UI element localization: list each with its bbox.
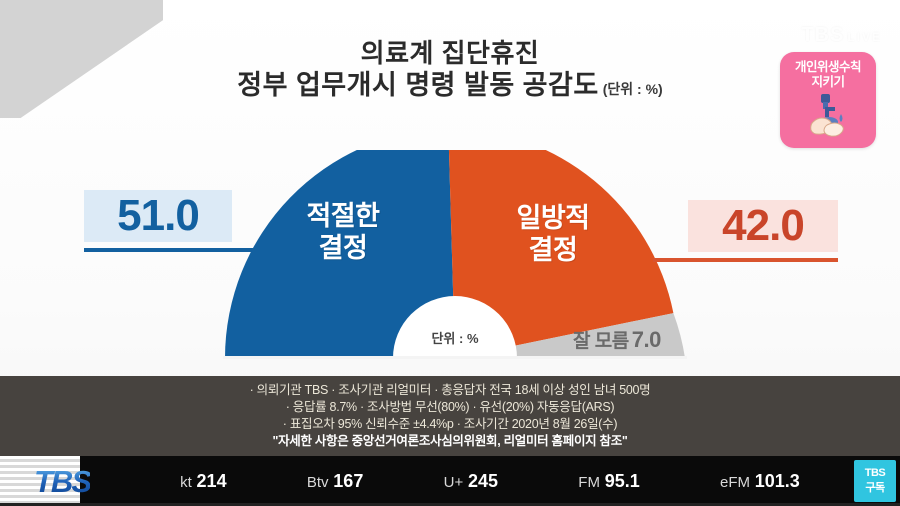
channel-number-btv: 167 [333,471,363,491]
channel-name-efm: eFM [720,474,750,491]
channel-number-uplus: 245 [468,471,498,491]
subscribe-badge-line1: TBS [865,467,886,479]
chart-title-block: 의료계 집단휴진 정부 업무개시 명령 발동 공감도(단위 : %) [0,38,900,102]
channel-list: kt 214 Btv 167 U+ 245 FM 95.1 eFM 101.3 [140,456,840,506]
broadcast-screen: TBSLIVE 개인위생수칙 지키기 의료계 집단휴진 정부 업무개시 명령 발… [0,0,900,506]
note-line-3: · 표집오차 95% 신뢰수준 ±4.4%p · 조사기간 2020년 8월 2… [283,416,617,433]
methodology-note-band: · 의뢰기관 TBS · 조사기관 리얼미터 · 총응답자 전국 18세 이상 … [0,376,900,456]
callout-right-value: 42.0 [688,200,838,252]
channel-name-btv: Btv [307,474,329,491]
slice-value-gray: 7.0 [632,327,661,352]
chart-subtitle: 의료계 집단휴진 [0,38,900,68]
hygiene-badge-line1: 개인위생수칙 [795,60,861,75]
channel-item-btv: Btv 167 [307,471,363,492]
channel-name-kt: kt [180,474,192,491]
channel-number-fm: 95.1 [605,471,640,491]
slice-label-orange: 일방적 결정 [478,202,628,266]
note-line-2: · 응답률 8.7% · 조사방법 무선(80%) · 유선(20%) 자동응답… [286,399,614,416]
callout-right-rule [653,258,838,262]
callout-right: 42.0 [688,200,838,262]
hygiene-badge-line2: 지키기 [811,75,844,90]
callout-left-rule [84,248,259,252]
note-line-4: "자세한 사항은 중앙선거여론조사심의위원회, 리얼미터 홈페이지 참조" [272,433,627,450]
tbs-live-watermark: TBSLIVE [801,24,882,47]
tbs-watermark-text: TBS [801,24,844,46]
chart-center-unit-label: 단위 : % [390,328,520,347]
callout-left-value: 51.0 [84,190,232,242]
chart-title: 정부 업무개시 명령 발동 공감도 [237,68,598,102]
channel-bar: TBS kt 214 Btv 167 U+ 245 FM 95.1 eFM 10… [0,456,900,506]
handwash-icon [801,92,855,143]
callout-left: 51.0 [84,190,259,252]
slice-label-orange-line2: 결정 [478,234,628,266]
channel-item-kt: kt 214 [180,471,226,492]
hygiene-badge: 개인위생수칙 지키기 [780,52,876,148]
live-watermark-text: LIVE [847,30,882,44]
slice-label-gray-text: 잘 모름 [573,331,629,352]
channel-item-fm: FM 95.1 [578,471,639,492]
channel-number-efm: 101.3 [755,471,800,491]
channel-name-uplus: U+ [444,474,464,491]
tbs-logo: TBS [34,464,90,500]
chart-unit-note: (단위 : %) [603,81,663,97]
slice-label-orange-line1: 일방적 [478,202,628,234]
subscribe-badge[interactable]: TBS 구독 [854,460,896,502]
pie-chart: 적절한 결정 일방적 결정 단위 : % 잘 모름7.0 [0,150,900,375]
channel-name-fm: FM [578,474,600,491]
channel-item-uplus: U+ 245 [444,471,498,492]
channel-number-kt: 214 [197,471,227,491]
channel-item-efm: eFM 101.3 [720,471,800,492]
slice-label-blue-line1: 적절한 [268,200,418,232]
note-line-1: · 의뢰기관 TBS · 조사기관 리얼미터 · 총응답자 전국 18세 이상 … [250,382,651,399]
slice-label-gray: 잘 모름7.0 [573,326,661,353]
slice-label-blue-line2: 결정 [268,232,418,264]
subscribe-badge-line2: 구독 [865,479,884,495]
slice-label-blue: 적절한 결정 [268,200,418,264]
